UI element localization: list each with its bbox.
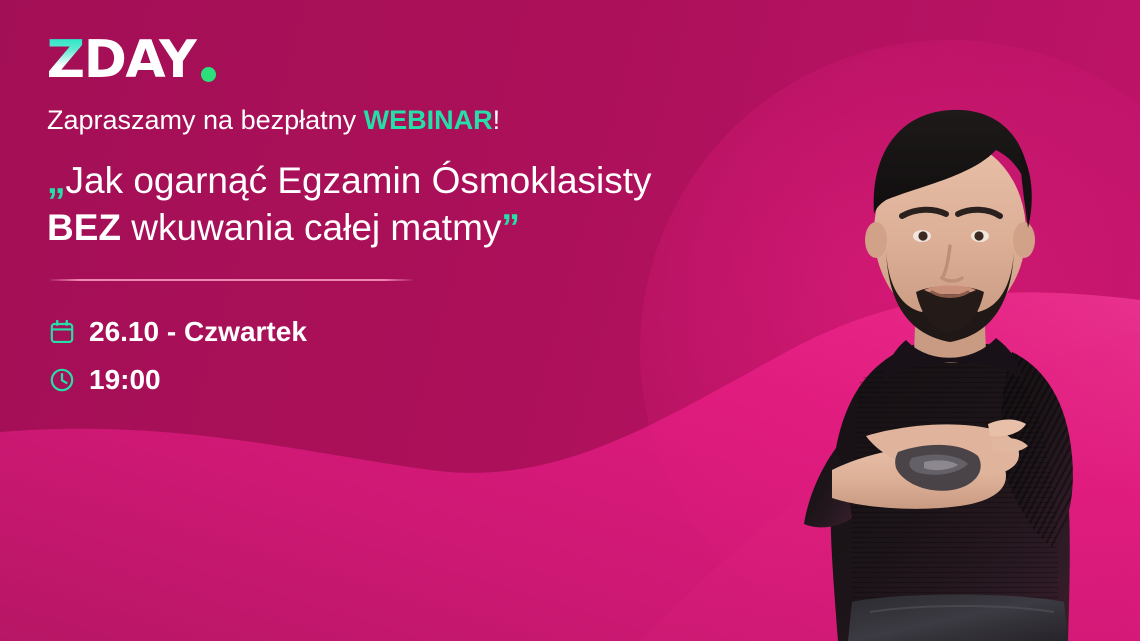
speaker-photo: [720, 0, 1140, 641]
close-quote: ”: [501, 207, 520, 248]
event-date-row: 26.10 - Czwartek: [49, 308, 307, 356]
tagline: Zapraszamy na bezpłatny WEBINAR!: [47, 104, 500, 136]
clock-icon: [49, 367, 75, 393]
event-details: 26.10 - Czwartek 19:00: [49, 308, 307, 404]
headline-line-2: BEZ wkuwania całej matmy”: [47, 204, 652, 251]
logo-dot-icon: [201, 67, 216, 82]
logo-text-day: DAY: [84, 34, 196, 86]
logo[interactable]: Z DAY: [47, 34, 216, 86]
open-quote: „: [47, 160, 66, 201]
tagline-suffix: !: [493, 105, 501, 135]
page-title: „Jak ogarnąć Egzamin Ósmoklasisty BEZ wk…: [47, 157, 652, 252]
event-date: 26.10 - Czwartek: [89, 318, 307, 346]
headline-line-2-text: wkuwania całej matmy: [121, 207, 501, 248]
divider: [50, 279, 412, 281]
headline-line-1-text: Jak ogarnąć Egzamin Ósmoklasisty: [66, 160, 652, 201]
headline-bez: BEZ: [47, 207, 121, 248]
content-column: Z DAY Zapraszamy na bezpłatny WEBINAR! „…: [47, 0, 747, 641]
tagline-prefix: Zapraszamy na bezpłatny: [47, 105, 364, 135]
headline-line-1: „Jak ogarnąć Egzamin Ósmoklasisty: [47, 157, 652, 204]
logo-letter-z: Z: [47, 34, 84, 86]
calendar-icon: [49, 319, 75, 345]
event-time-row: 19:00: [49, 356, 307, 404]
webinar-banner: Z DAY Zapraszamy na bezpłatny WEBINAR! „…: [0, 0, 1140, 641]
event-time: 19:00: [89, 366, 161, 394]
tagline-highlight: WEBINAR: [364, 105, 493, 135]
